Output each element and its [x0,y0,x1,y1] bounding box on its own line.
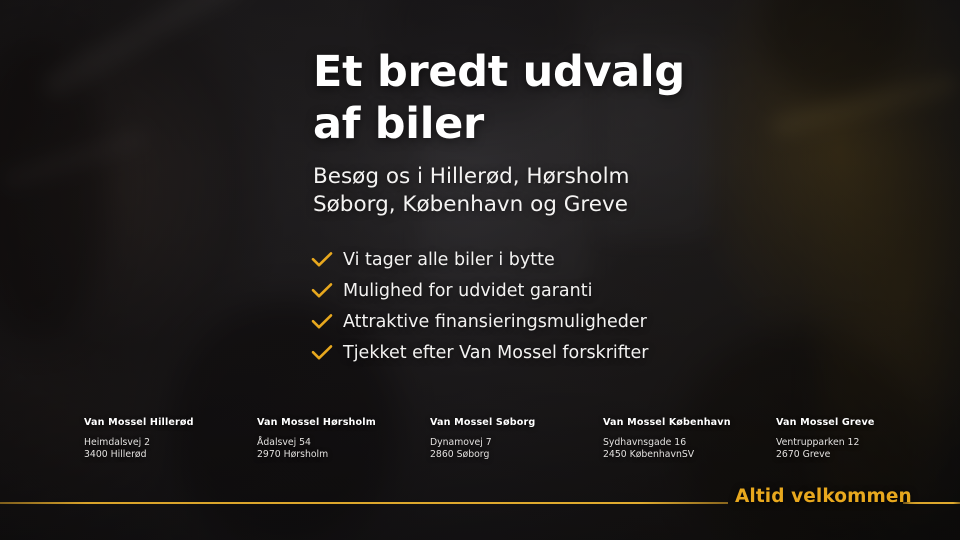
location-card: Van Mossel Greve Ventrupparken 12 2670 G… [776,417,896,460]
list-item: Vi tager alle biler i bytte [311,244,648,275]
dealership-locations: Van Mossel Hillerød Heimdalsvej 2 3400 H… [84,417,912,460]
benefits-list: Vi tager alle biler i bytte Mulighed for… [311,244,648,368]
location-city: 2970 Hørsholm [257,449,430,461]
location-card: Van Mossel Hillerød Heimdalsvej 2 3400 H… [84,417,257,460]
check-icon [311,344,343,362]
location-name: Van Mossel Søborg [430,417,603,428]
location-name: Van Mossel Greve [776,417,896,428]
headline: Et bredt udvalg af biler [313,46,685,150]
tagline: Altid velkommen [735,486,912,507]
location-street: Sydhavnsgade 16 [603,437,776,449]
tagline-band: Altid velkommen [0,495,960,511]
list-item: Tjekket efter Van Mossel forskrifter [311,337,648,368]
list-item: Attraktive finansieringsmuligheder [311,306,648,337]
location-name: Van Mossel Hillerød [84,417,257,428]
location-city: 2450 KøbenhavnSV [603,449,776,461]
check-icon [311,251,343,269]
subtitle: Besøg os i Hillerød, Hørsholm Søborg, Kø… [313,163,630,219]
location-street: Ådalsvej 54 [257,437,430,449]
location-card: Van Mossel Søborg Dynamovej 7 2860 Søbor… [430,417,603,460]
location-street: Heimdalsvej 2 [84,437,257,449]
promo-slide: Et bredt udvalg af biler Besøg os i Hill… [0,0,960,540]
location-name: Van Mossel København [603,417,776,428]
location-street: Ventrupparken 12 [776,437,896,449]
check-icon [311,313,343,331]
location-city: 3400 Hillerød [84,449,257,461]
location-city: 2860 Søborg [430,449,603,461]
list-item-label: Attraktive finansieringsmuligheder [343,312,647,332]
check-icon [311,282,343,300]
slide-content: Et bredt udvalg af biler Besøg os i Hill… [0,0,960,540]
location-city: 2670 Greve [776,449,896,461]
location-street: Dynamovej 7 [430,437,603,449]
location-card: Van Mossel København Sydhavnsgade 16 245… [603,417,776,460]
list-item-label: Vi tager alle biler i bytte [343,250,555,270]
list-item-label: Tjekket efter Van Mossel forskrifter [343,343,648,363]
location-name: Van Mossel Hørsholm [257,417,430,428]
divider-left [0,502,728,504]
location-card: Van Mossel Hørsholm Ådalsvej 54 2970 Hør… [257,417,430,460]
list-item-label: Mulighed for udvidet garanti [343,281,592,301]
list-item: Mulighed for udvidet garanti [311,275,648,306]
